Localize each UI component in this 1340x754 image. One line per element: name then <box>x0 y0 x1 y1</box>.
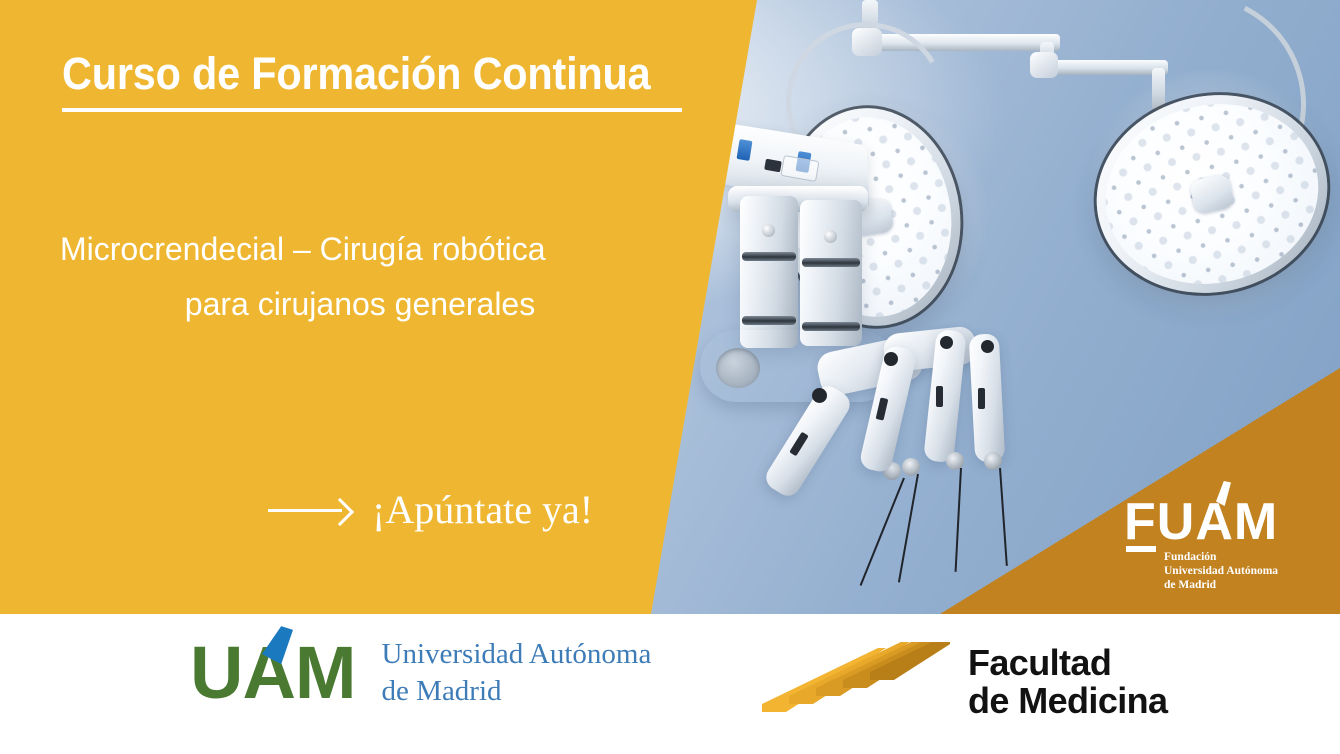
cta-label: ¡Apúntate ya! <box>372 486 593 533</box>
hero-section: Curso de Formación Continua Microcrendec… <box>0 0 1340 614</box>
medicina-line-2: de Medicina <box>968 682 1167 720</box>
medicina-chevrons-svg <box>760 642 950 722</box>
course-subtitle-line-2: para cirujanos generales <box>60 277 660 332</box>
robot-column-ring-2 <box>802 258 860 267</box>
robot-yoke-pivot <box>716 348 760 388</box>
fuam-logo: FUAM Fundación Universidad Autónoma de M… <box>1124 498 1294 592</box>
page-title: Curso de Formación Continua <box>62 48 650 100</box>
footer-logos: UAM Universidad Autónoma de Madrid Facul… <box>0 614 1340 754</box>
uam-subtext-line-2: de Madrid <box>382 673 652 710</box>
lamp-face-right <box>1089 85 1335 304</box>
robot-column-ring-1 <box>742 252 796 261</box>
promotional-poster: Curso de Formación Continua Microcrendec… <box>0 0 1340 754</box>
medicina-chevron-mark-icon <box>760 642 950 722</box>
course-subtitle-line-1: Microcrendecial – Cirugía robótica <box>60 222 660 277</box>
robot-arm-joint-3 <box>940 336 953 349</box>
medicina-line-1: Facultad <box>968 644 1167 682</box>
medicina-wordmark: Facultad de Medicina <box>968 644 1167 720</box>
cta-signup[interactable]: ¡Apúntate ya! <box>268 486 593 533</box>
uam-mark: UAM <box>190 639 356 707</box>
course-subtitle: Microcrendecial – Cirugía robótica para … <box>60 222 660 332</box>
robot-column-knob-2 <box>824 230 837 243</box>
fuam-subtext: Fundación Universidad Autónoma de Madrid <box>1164 550 1294 592</box>
arrow-right-icon <box>268 497 350 523</box>
fuam-subtext-line-2: Universidad Autónoma <box>1164 564 1294 578</box>
robot-arm-joint-4 <box>981 340 994 353</box>
robot-arm-band-4 <box>978 388 985 409</box>
boom-joint-2 <box>1030 52 1058 78</box>
facultad-medicina-logo: Facultad de Medicina <box>760 642 1167 722</box>
fuam-wordmark: FUAM <box>1124 498 1294 547</box>
robot-arm-band-3 <box>936 386 943 407</box>
title-underline <box>62 108 682 112</box>
robot-column-ring-3 <box>742 316 796 325</box>
robot-column-left <box>740 196 798 348</box>
fuam-subtext-line-3: de Madrid <box>1164 578 1294 592</box>
robot-arm-joint-1 <box>812 388 827 403</box>
robot-arm-joint-2 <box>884 352 898 366</box>
fuam-subtext-line-1: Fundación <box>1164 550 1294 564</box>
robot-column-knob-1 <box>762 224 775 237</box>
uam-subtext: Universidad Autónoma de Madrid <box>382 636 652 710</box>
fuam-dash-icon <box>1126 546 1156 552</box>
uam-subtext-line-1: Universidad Autónoma <box>382 636 652 673</box>
uam-logo: UAM Universidad Autónoma de Madrid <box>190 636 651 710</box>
